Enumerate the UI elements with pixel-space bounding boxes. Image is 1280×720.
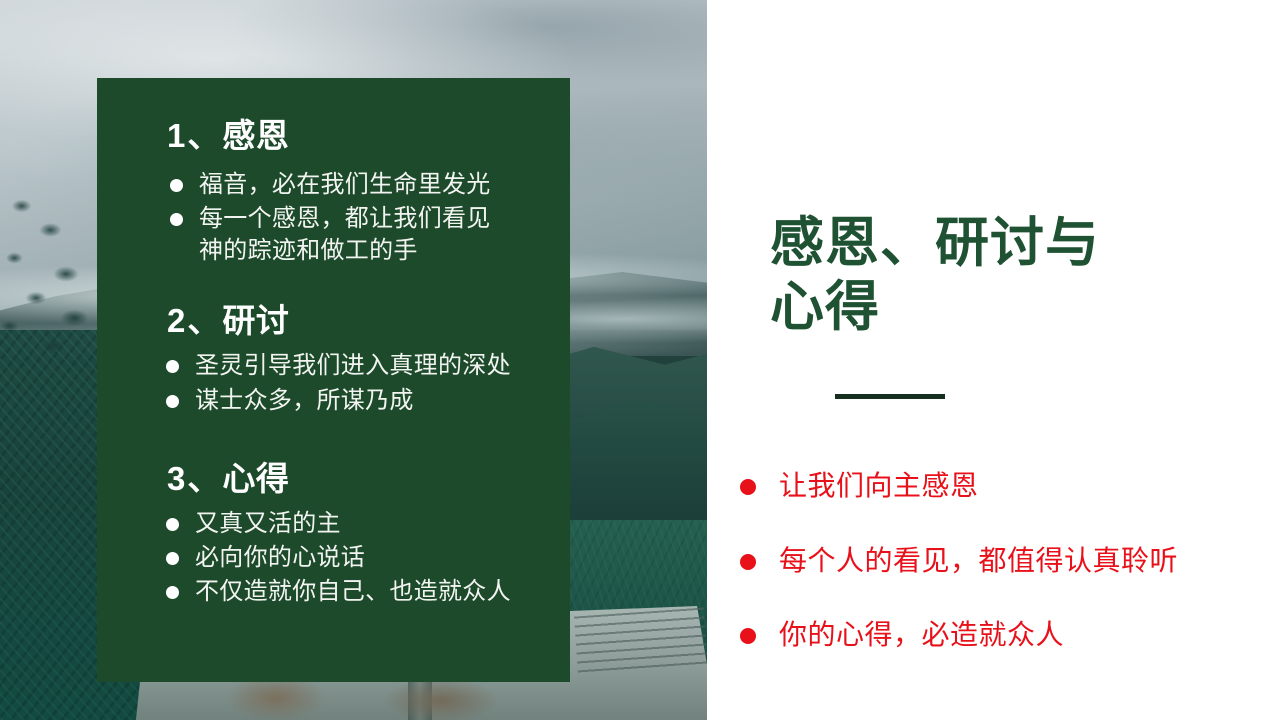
section-heading-2: 2、研讨 bbox=[167, 303, 548, 340]
slide: 1、感恩 福音，必在我们生命里发光 每一个感恩，都让我们看见 神的踪迹和做工的手… bbox=[0, 0, 1280, 720]
list-item: 每个人的看见，都值得认真聆听 bbox=[727, 545, 1272, 579]
list-item: 又真又活的主 bbox=[195, 508, 548, 540]
list-item: 每一个感恩，都让我们看见 神的踪迹和做工的手 bbox=[199, 203, 548, 267]
bullet-dot-icon bbox=[166, 586, 179, 599]
section-bullets-1: 福音，必在我们生命里发光 每一个感恩，都让我们看见 神的踪迹和做工的手 bbox=[127, 169, 548, 267]
bullet-text-line2: 神的踪迹和做工的手 bbox=[199, 235, 548, 267]
bullet-dot-icon bbox=[166, 552, 179, 565]
slide-title-line-1: 感恩、研讨与 bbox=[770, 212, 1250, 276]
section-heading-1: 1、感恩 bbox=[167, 118, 548, 155]
list-item: 不仅造就你自己、也造就众人 bbox=[195, 576, 548, 608]
bullet-dot-icon bbox=[166, 395, 179, 408]
section-title-3: 心得 bbox=[222, 460, 289, 497]
bullet-dot-icon bbox=[166, 518, 179, 531]
list-item: 让我们向主感恩 bbox=[727, 470, 1272, 504]
bullet-text: 不仅造就你自己、也造就众人 bbox=[195, 578, 511, 605]
bullet-dot-icon bbox=[740, 554, 756, 570]
key-points-list: 让我们向主感恩 每个人的看见，都值得认真聆听 你的心得，必造就众人 bbox=[727, 470, 1272, 694]
bullet-dot-icon bbox=[166, 360, 179, 373]
bullet-text: 每一个感恩，都让我们看见 bbox=[199, 205, 491, 232]
bullet-text: 必向你的心说话 bbox=[195, 544, 365, 571]
section-number-1: 1、 bbox=[167, 117, 222, 154]
section-bullets-2: 圣灵引导我们进入真理的深处 谋士众多，所谋乃成 bbox=[127, 350, 548, 416]
section-number-3: 3、 bbox=[167, 460, 222, 497]
list-item: 圣灵引导我们进入真理的深处 bbox=[195, 350, 548, 382]
bullet-dot-icon bbox=[170, 179, 183, 192]
key-point-text: 让我们向主感恩 bbox=[779, 471, 979, 502]
green-content-card: 1、感恩 福音，必在我们生命里发光 每一个感恩，都让我们看见 神的踪迹和做工的手… bbox=[97, 78, 570, 682]
bullet-text: 福音，必在我们生命里发光 bbox=[199, 171, 491, 198]
list-item: 谋士众多，所谋乃成 bbox=[195, 385, 548, 417]
bullet-dot-icon bbox=[740, 628, 756, 644]
right-column: 感恩、研讨与 心得 让我们向主感恩 每个人的看见，都值得认真聆听 你的心得，必造… bbox=[707, 0, 1280, 720]
section-heading-3: 3、心得 bbox=[167, 461, 548, 498]
book-text-lines bbox=[574, 608, 707, 679]
bullet-dot-icon bbox=[170, 213, 183, 226]
section-bullets-3: 又真又活的主 必向你的心说话 不仅造就你自己、也造就众人 bbox=[127, 508, 548, 608]
key-point-text: 每个人的看见，都值得认真聆听 bbox=[779, 546, 1178, 577]
section-number-2: 2、 bbox=[167, 302, 222, 339]
bullet-text: 又真又活的主 bbox=[195, 510, 341, 537]
list-item: 福音，必在我们生命里发光 bbox=[199, 169, 548, 201]
section-title-2: 研讨 bbox=[222, 302, 289, 339]
page-title: 感恩、研讨与 心得 bbox=[770, 212, 1250, 339]
title-divider bbox=[835, 394, 945, 399]
bullet-text: 谋士众多，所谋乃成 bbox=[195, 387, 414, 414]
key-point-text: 你的心得，必造就众人 bbox=[779, 620, 1064, 651]
list-item: 必向你的心说话 bbox=[195, 542, 548, 574]
bullet-text: 圣灵引导我们进入真理的深处 bbox=[195, 352, 511, 379]
bullet-dot-icon bbox=[740, 479, 756, 495]
slide-title-line-2: 心得 bbox=[770, 276, 1250, 340]
list-item: 你的心得，必造就众人 bbox=[727, 619, 1272, 653]
section-title-1: 感恩 bbox=[222, 117, 289, 154]
